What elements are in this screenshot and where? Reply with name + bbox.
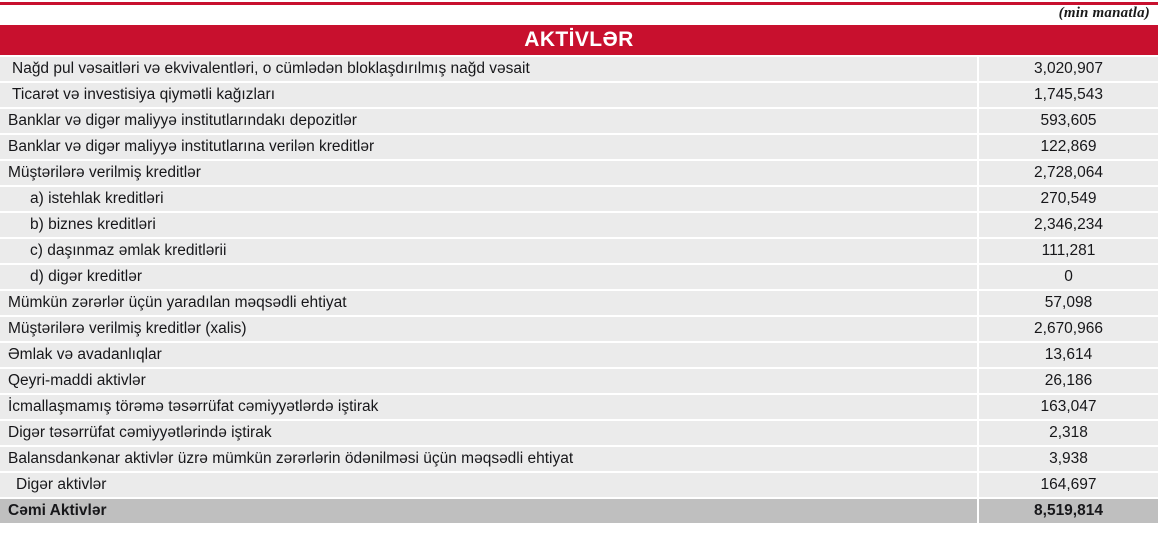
row-value: 3,020,907 <box>979 57 1158 81</box>
row-label: Qeyri-maddi aktivlər <box>0 369 977 393</box>
row-label: Digər təsərrüfat cəmiyyətlərində iştirak <box>0 421 977 445</box>
row-label: a) istehlak kreditləri <box>0 187 977 211</box>
table-row: b) biznes kreditləri2,346,234 <box>0 213 1158 237</box>
row-label: Digər aktivlər <box>0 473 977 497</box>
table-row: Müştərilərə verilmiş kreditlər2,728,064 <box>0 161 1158 185</box>
table-row: Banklar və digər maliyyə institutlarında… <box>0 109 1158 133</box>
row-label: Müştərilərə verilmiş kreditlər (xalis) <box>0 317 977 341</box>
page-title: AKTİVLƏR <box>0 25 1158 55</box>
row-value: 270,549 <box>979 187 1158 211</box>
page-title-text: AKTİVLƏR <box>524 28 633 52</box>
table-row: a) istehlak kreditləri270,549 <box>0 187 1158 211</box>
table-row: Digər təsərrüfat cəmiyyətlərində iştirak… <box>0 421 1158 445</box>
row-label: b) biznes kreditləri <box>0 213 977 237</box>
row-label: Banklar və digər maliyyə institutlarında… <box>0 109 977 133</box>
table-row: d) digər kreditlər0 <box>0 265 1158 289</box>
row-value: 2,670,966 <box>979 317 1158 341</box>
row-value: 1,745,543 <box>979 83 1158 107</box>
row-value: 3,938 <box>979 447 1158 471</box>
row-value: 2,346,234 <box>979 213 1158 237</box>
row-value: 2,318 <box>979 421 1158 445</box>
table-row: c) daşınmaz əmlak kreditlərii111,281 <box>0 239 1158 263</box>
row-value: 26,186 <box>979 369 1158 393</box>
assets-statement-sheet: (min manatla) AKTİVLƏR Nağd pul vəsaitlə… <box>0 0 1158 535</box>
table-row: Əmlak və avadanlıqlar13,614 <box>0 343 1158 367</box>
row-label: İcmallaşmamış törəmə təsərrüfat cəmiyyət… <box>0 395 977 419</box>
table-row: Mümkün zərərlər üçün yaradılan məqsədli … <box>0 291 1158 315</box>
row-label: Mümkün zərərlər üçün yaradılan məqsədli … <box>0 291 977 315</box>
assets-table: Nağd pul vəsaitləri və ekvivalentləri, o… <box>0 57 1158 523</box>
table-row: Digər aktivlər164,697 <box>0 473 1158 497</box>
row-label: Banklar və digər maliyyə institutlarına … <box>0 135 977 159</box>
row-value: 593,605 <box>979 109 1158 133</box>
row-label: d) digər kreditlər <box>0 265 977 289</box>
row-value: 163,047 <box>979 395 1158 419</box>
row-value: 164,697 <box>979 473 1158 497</box>
top-rule-divider <box>0 2 1158 5</box>
row-label: Müştərilərə verilmiş kreditlər <box>0 161 977 185</box>
row-value: 57,098 <box>979 291 1158 315</box>
table-row: Nağd pul vəsaitləri və ekvivalentləri, o… <box>0 57 1158 81</box>
row-value: 8,519,814 <box>979 499 1158 523</box>
table-row: İcmallaşmamış törəmə təsərrüfat cəmiyyət… <box>0 395 1158 419</box>
table-row: Balansdankənar aktivlər üzrə mümkün zərə… <box>0 447 1158 471</box>
table-row: Müştərilərə verilmiş kreditlər (xalis)2,… <box>0 317 1158 341</box>
table-row: Qeyri-maddi aktivlər26,186 <box>0 369 1158 393</box>
table-row-total: Cəmi Aktivlər8,519,814 <box>0 499 1158 523</box>
row-label: Balansdankənar aktivlər üzrə mümkün zərə… <box>0 447 977 471</box>
row-label: Ticarət və investisiya qiymətli kağızlar… <box>0 83 977 107</box>
unit-note: (min manatla) <box>1059 5 1150 22</box>
row-value: 2,728,064 <box>979 161 1158 185</box>
row-label: c) daşınmaz əmlak kreditlərii <box>0 239 977 263</box>
row-value: 122,869 <box>979 135 1158 159</box>
table-row: Banklar və digər maliyyə institutlarına … <box>0 135 1158 159</box>
row-label: Nağd pul vəsaitləri və ekvivalentləri, o… <box>0 57 977 81</box>
row-value: 111,281 <box>979 239 1158 263</box>
table-row: Ticarət və investisiya qiymətli kağızlar… <box>0 83 1158 107</box>
row-value: 0 <box>979 265 1158 289</box>
row-label: Əmlak və avadanlıqlar <box>0 343 977 367</box>
row-label: Cəmi Aktivlər <box>0 499 977 523</box>
row-value: 13,614 <box>979 343 1158 367</box>
